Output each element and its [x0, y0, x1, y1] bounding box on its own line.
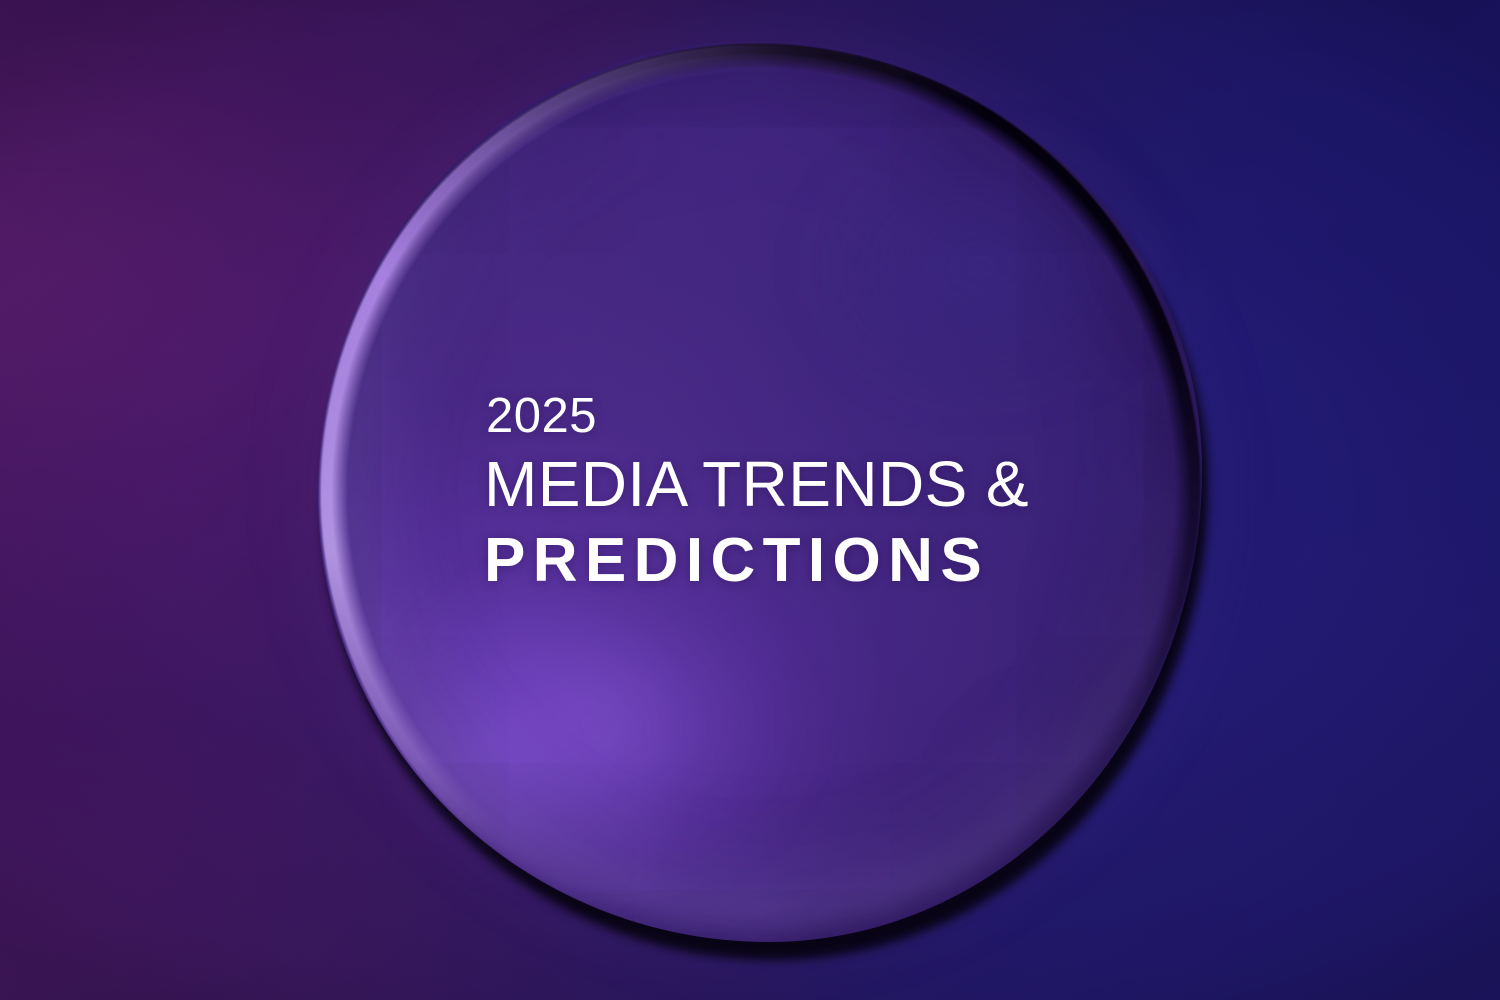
cover-canvas: 2025 MEDIA TRENDS & PREDICTIONS	[0, 0, 1500, 1000]
title-year: 2025	[486, 392, 1084, 441]
title-line-main: MEDIA TRENDS &	[484, 452, 1084, 516]
title-line-bold: PREDICTIONS	[484, 530, 1084, 592]
title-lockup: 2025 MEDIA TRENDS & PREDICTIONS	[484, 392, 1084, 592]
